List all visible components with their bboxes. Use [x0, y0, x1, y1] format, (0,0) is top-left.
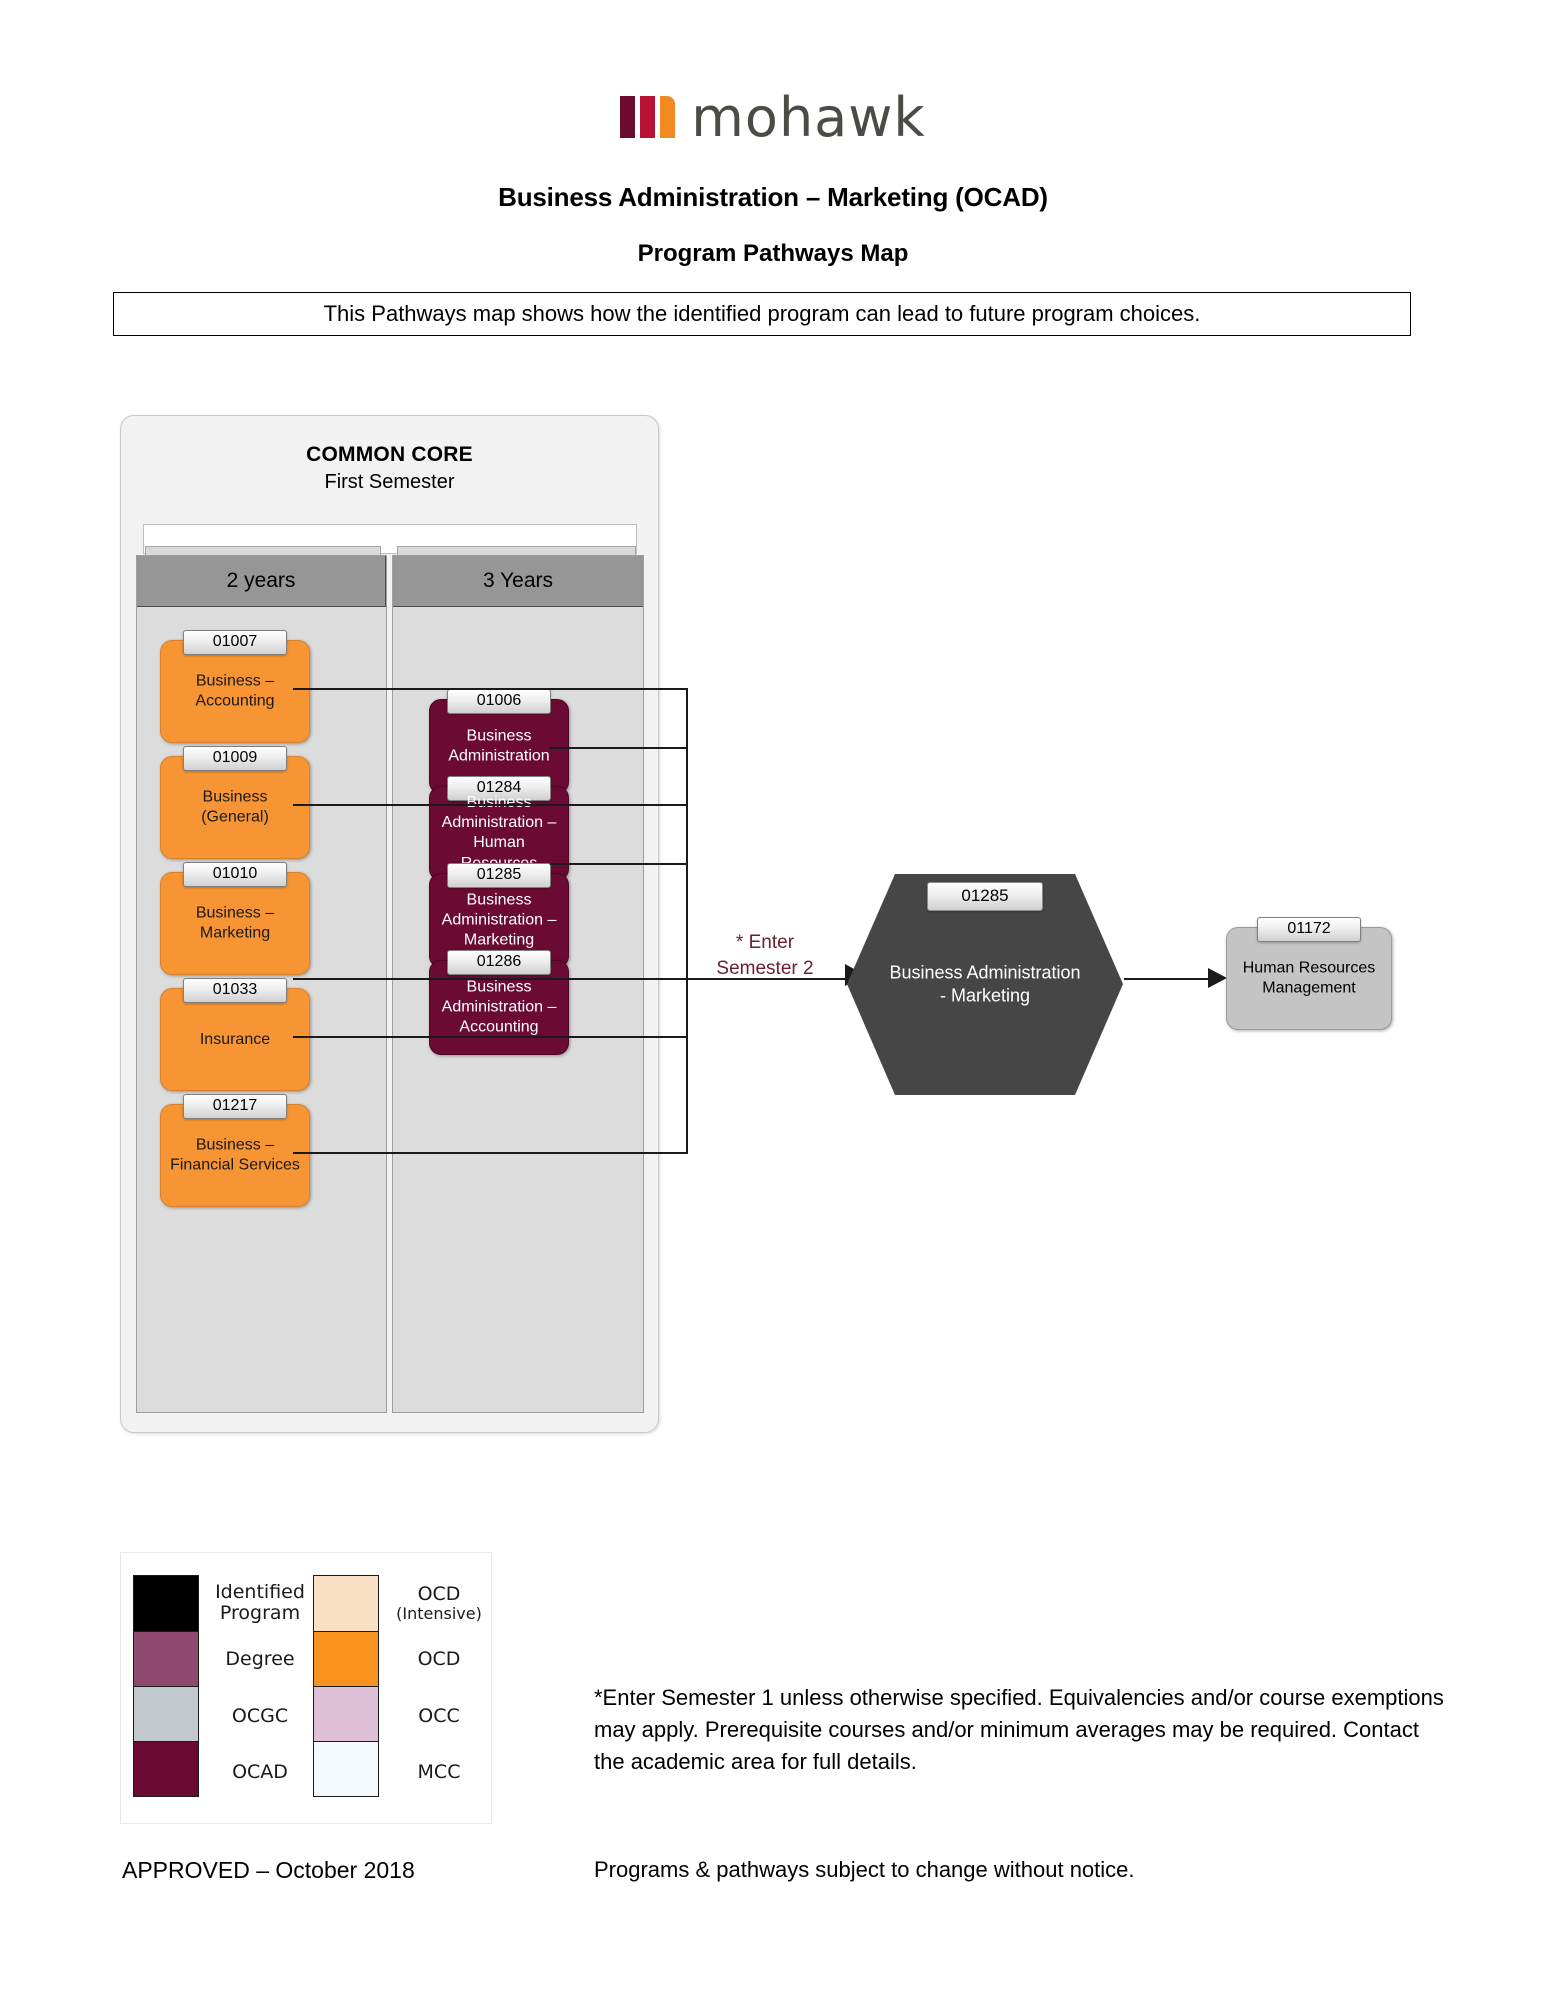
connector-01009 — [293, 804, 687, 806]
column-two-years: 2 years 01007 Business – Accounting 0100… — [136, 555, 387, 1413]
node-01009[interactable]: 01009 Business (General) — [160, 756, 310, 859]
legend-swatch-stack-left — [133, 1575, 199, 1797]
node-01009-code: 01009 — [183, 746, 287, 771]
connector-collector-bar — [686, 688, 688, 1154]
legend-label-mcc: MCC — [383, 1745, 495, 1802]
node-01009-label: Business (General) — [167, 787, 303, 828]
identified-program-hexagon[interactable]: 01285 Business Administration - Marketin… — [845, 872, 1125, 1097]
node-01285-pathway-code: 01285 — [447, 863, 551, 888]
legend-swatch-ocgc — [134, 1686, 198, 1741]
node-01033-label: Insurance — [167, 1029, 303, 1049]
node-01007[interactable]: 01007 Business – Accounting — [160, 640, 310, 743]
common-core-title: COMMON CORE — [121, 443, 658, 467]
logo-bar-crimson-icon — [640, 96, 655, 138]
common-core-subtitle: First Semester — [121, 471, 658, 494]
legend-label-occ: OCC — [383, 1688, 495, 1745]
node-01172[interactable]: 01172 Human Resources Management — [1226, 927, 1392, 1030]
connector-01006 — [550, 747, 687, 749]
legend-label-ocd-intensive: OCD (Intensive) — [383, 1575, 495, 1632]
legend: Identified Program Degree OCGC OCAD OCD … — [120, 1552, 492, 1824]
node-01007-label: Business – Accounting — [167, 671, 303, 712]
identified-program-label: Business Administration - Marketing — [875, 961, 1095, 1008]
legend-label-ocad: OCAD — [204, 1745, 316, 1802]
legend-swatch-degree — [134, 1631, 198, 1686]
page-subtitle: Program Pathways Map — [0, 240, 1546, 268]
page-title: Business Administration – Marketing (OCA… — [0, 182, 1546, 213]
approved-date: APPROVED – October 2018 — [122, 1857, 415, 1884]
legend-swatch-ocad — [134, 1741, 198, 1796]
node-01286-label: Business Administration – Accounting — [436, 977, 562, 1038]
arrowhead-into-destination — [1208, 968, 1227, 988]
node-01217-code: 01217 — [183, 1094, 287, 1119]
legend-swatch-occ — [314, 1686, 378, 1741]
legend-label-degree: Degree — [204, 1632, 316, 1689]
legend-label-ocgc: OCGC — [204, 1688, 316, 1745]
common-core-header: COMMON CORE First Semester — [121, 443, 658, 494]
legend-swatch-identified-program — [134, 1576, 198, 1631]
legend-label-stack-right: OCD (Intensive) OCD OCC MCC — [383, 1575, 495, 1801]
connector-01286 — [550, 1152, 687, 1154]
node-01010-code: 01010 — [183, 862, 287, 887]
node-01010-label: Business – Marketing — [167, 903, 303, 944]
common-core-panel: COMMON CORE First Semester 2 years 01007… — [120, 415, 659, 1433]
column-three-years: 3 Years 01006 Business Administration 01… — [392, 555, 644, 1413]
node-01172-label: Human Resources Management — [1233, 958, 1385, 999]
connector-to-destination — [1124, 978, 1218, 980]
logo-bar-maroon-icon — [620, 96, 635, 138]
legend-swatch-mcc — [314, 1741, 378, 1796]
legend-swatch-ocd — [314, 1631, 378, 1686]
node-01217[interactable]: 01217 Business – Financial Services — [160, 1104, 310, 1207]
legend-label-identified-program: Identified Program — [204, 1575, 316, 1632]
intro-banner-text: This Pathways map shows how the identifi… — [324, 301, 1201, 327]
node-01006-label: Business Administration — [436, 726, 562, 767]
node-01286[interactable]: 01286 Business Administration – Accounti… — [429, 960, 569, 1055]
node-01172-code: 01172 — [1257, 917, 1361, 942]
node-01286-code: 01286 — [447, 950, 551, 975]
node-01010[interactable]: 01010 Business – Marketing — [160, 872, 310, 975]
identified-program-code: 01285 — [927, 882, 1043, 911]
footnote-text: *Enter Semester 1 unless otherwise speci… — [594, 1682, 1454, 1778]
legend-swatch-stack-right — [313, 1575, 379, 1797]
node-01033[interactable]: 01033 Insurance — [160, 988, 310, 1091]
legend-label-stack-left: Identified Program Degree OCGC OCAD — [204, 1575, 316, 1801]
node-01006-code: 01006 — [447, 689, 551, 714]
node-01007-code: 01007 — [183, 630, 287, 655]
connector-01284 — [550, 863, 687, 865]
connector-01007 — [293, 688, 687, 690]
mohawk-logo: mohawk — [0, 92, 1546, 138]
legend-swatch-ocd-intensive — [314, 1576, 378, 1631]
node-01285-pathway-label: Business Administration – Marketing — [436, 890, 562, 951]
node-01217-label: Business – Financial Services — [167, 1135, 303, 1176]
column-three-years-header: 3 Years — [393, 556, 643, 607]
subject-to-change-text: Programs & pathways subject to change wi… — [594, 1857, 1135, 1883]
enter-semester-note: * Enter Semester 2 — [690, 930, 840, 981]
column-two-years-header: 2 years — [137, 556, 386, 607]
logo-wordmark: mohawk — [691, 98, 925, 138]
logo-bar-orange-icon — [660, 96, 675, 138]
legend-label-ocd: OCD — [383, 1632, 495, 1689]
node-01033-code: 01033 — [183, 978, 287, 1003]
connector-01285-pathway — [550, 1036, 687, 1038]
intro-banner: This Pathways map shows how the identifi… — [113, 292, 1411, 336]
logo-bars-icon — [620, 96, 675, 138]
